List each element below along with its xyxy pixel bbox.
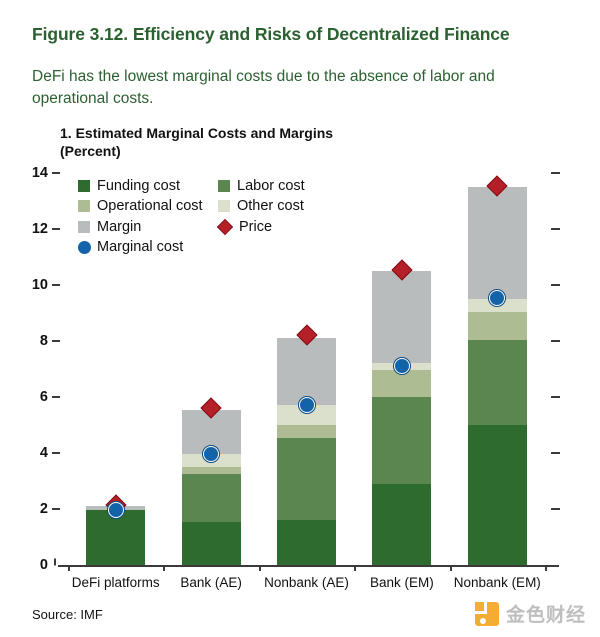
y-axis-tick-mark-right (551, 228, 560, 230)
legend-item-label: Price (239, 219, 272, 235)
y-axis-tick-label: 8 (20, 333, 48, 349)
watermark: 金色财经 (475, 600, 586, 627)
legend-item-price[interactable]: Price (218, 217, 305, 236)
bar-segment-operational-cost (277, 425, 336, 438)
legend-item-label: Margin (97, 219, 141, 235)
y-axis-tick-mark (52, 284, 60, 286)
watermark-logo-icon (475, 602, 499, 626)
x-axis-tick-mark (450, 565, 452, 571)
legend-swatch-diamond-icon (217, 218, 233, 234)
bar-segment-operational-cost (372, 370, 431, 397)
y-axis-tick-mark-right (551, 508, 560, 510)
bar-segment-funding-cost (277, 520, 336, 565)
y-axis-tick-mark (52, 228, 60, 230)
legend-item-label: Funding cost (97, 178, 180, 194)
y-axis-tick-label: 4 (20, 445, 48, 461)
legend-swatch-square-icon (218, 180, 230, 192)
y-axis-tick-mark (52, 396, 60, 398)
y-axis-tick-label: 12 (20, 221, 48, 237)
y-axis-tick-label: 2 (20, 501, 48, 517)
marker-marginal-cost (489, 290, 505, 306)
y-axis-tick-mark-right (551, 340, 560, 342)
legend-item-label: Marginal cost (97, 239, 183, 255)
y-axis-tick-label: 0 (20, 557, 48, 573)
watermark-text: 金色财经 (506, 600, 586, 627)
bar-segment-labor-cost (182, 474, 241, 522)
bar-segment-funding-cost (372, 484, 431, 565)
legend-item-label: Labor cost (237, 178, 305, 194)
x-axis-tick-mark (545, 565, 547, 571)
x-axis-tick-mark (259, 565, 261, 571)
bar-segment-labor-cost (468, 340, 527, 425)
bar-segment-funding-cost (182, 522, 241, 565)
y-axis-tick-mark (52, 340, 60, 342)
chart-plot-area: 02468101214DeFi platformsBank (AE)Nonban… (0, 0, 600, 637)
marker-marginal-cost (203, 446, 219, 462)
x-axis-tick-label: Bank (EM) (370, 575, 434, 590)
x-axis-tick-mark (68, 565, 70, 571)
legend-item-margin[interactable]: Margin (78, 217, 203, 236)
legend-swatch-square-icon (78, 180, 90, 192)
bar-group-defi-platforms[interactable] (86, 0, 145, 565)
legend-swatch-circle-icon (78, 241, 91, 254)
marker-marginal-cost (299, 397, 315, 413)
x-axis-line (58, 565, 559, 567)
bar-group-bank-em[interactable] (372, 0, 431, 565)
legend-swatch-square-icon (218, 200, 230, 212)
y-axis-tick-mark (52, 172, 60, 174)
bar-segment-margin (372, 271, 431, 363)
bar-segment-margin (468, 187, 527, 299)
bar-segment-labor-cost (277, 438, 336, 521)
bar-segment-funding-cost (86, 510, 145, 565)
y-axis-tick-label: 14 (20, 165, 48, 181)
bar-group-bank-ae[interactable] (182, 0, 241, 565)
y-axis-tick-label: 10 (20, 277, 48, 293)
bar-segment-funding-cost (468, 425, 527, 565)
y-axis-tick-mark (52, 452, 60, 454)
bar-segment-operational-cost (182, 467, 241, 474)
legend-item-funding-cost[interactable]: Funding cost (78, 176, 203, 195)
x-axis-tick-label: Nonbank (AE) (264, 575, 349, 590)
bar-segment-operational-cost (468, 312, 527, 340)
legend-item-labor-cost[interactable]: Labor cost (218, 176, 305, 195)
legend-item-marginal-cost[interactable]: Marginal cost (78, 238, 203, 257)
y-axis-tick-label: 6 (20, 389, 48, 405)
legend-item-label: Operational cost (97, 198, 203, 214)
y-axis-tick-mark-right (551, 396, 560, 398)
marker-marginal-cost (394, 358, 410, 374)
y-axis-tick-mark (52, 508, 60, 510)
legend-item-other-cost[interactable]: Other cost (218, 197, 305, 216)
x-axis-tick-mark (163, 565, 165, 571)
y-axis-tick-mark-right (551, 452, 560, 454)
bar-segment-labor-cost (372, 397, 431, 484)
x-axis-tick-mark (354, 565, 356, 571)
y-axis-tick-mark-right (551, 284, 560, 286)
bar-group-nonbank-em[interactable] (468, 0, 527, 565)
marker-marginal-cost (108, 502, 124, 518)
x-axis-tick-label: DeFi platforms (72, 575, 160, 590)
bar-segment-margin (277, 338, 336, 405)
legend-item-label: Other cost (237, 198, 304, 214)
bar-group-nonbank-ae[interactable] (277, 0, 336, 565)
y-axis-tick-mark-right (551, 172, 560, 174)
x-axis-tick-label: Nonbank (EM) (454, 575, 541, 590)
legend-item-operational-cost[interactable]: Operational cost (78, 197, 203, 216)
legend-column-right: Labor costOther costPrice (218, 176, 305, 238)
legend-column-left: Funding costOperational costMarginMargin… (78, 176, 203, 258)
source-note: Source: IMF (32, 607, 103, 622)
legend-swatch-square-icon (78, 221, 90, 233)
y-axis-origin-tick (54, 559, 56, 566)
legend-swatch-square-icon (78, 200, 90, 212)
x-axis-tick-label: Bank (AE) (180, 575, 242, 590)
